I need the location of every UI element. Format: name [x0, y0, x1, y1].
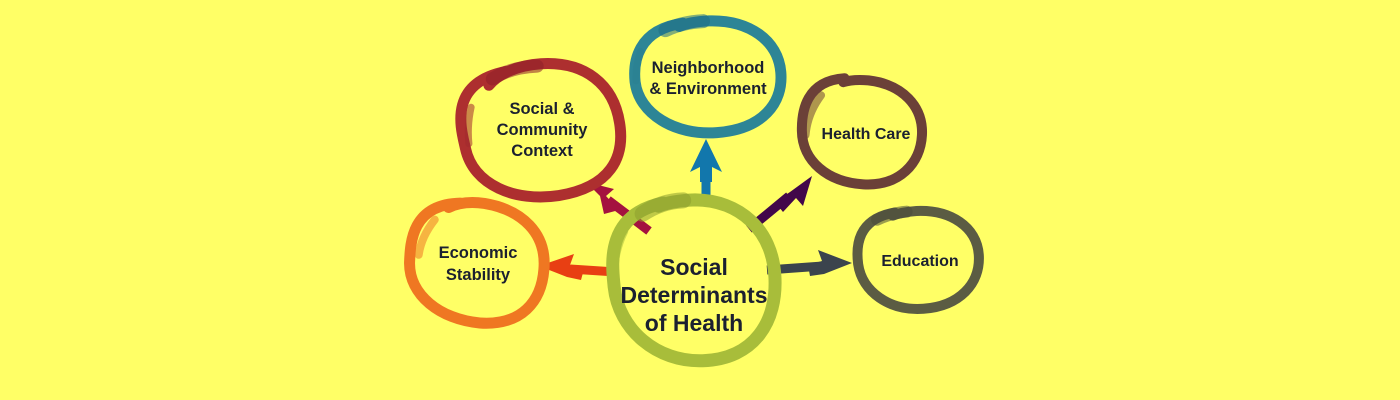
hub-label-line-0: Social	[660, 254, 728, 280]
node-ring	[402, 194, 552, 331]
node-neighborhood-environment[interactable]: Neighborhood & Environment	[632, 17, 784, 137]
node-label-line-0: Economic	[439, 244, 518, 262]
node-economic-stability[interactable]: Economic Stability	[402, 194, 552, 331]
node-ring-overlap	[877, 212, 907, 220]
node-label-line-0: Education	[881, 253, 958, 270]
hub-label-line-2: of Health	[645, 310, 743, 336]
node-label-line-1: & Environment	[649, 80, 767, 98]
arrow-to-economic-stability	[539, 254, 616, 280]
social-determinants-of-health-diagram: Social & Community Context Neighborhood …	[0, 0, 1400, 400]
arrow-head	[690, 139, 722, 182]
node-ring	[632, 17, 784, 137]
node-label-line-1: Community	[497, 121, 589, 139]
node-label-line-1: Stability	[446, 266, 511, 284]
arrow-head	[775, 176, 812, 212]
node-ring-tail	[635, 51, 643, 80]
node-social-determinants-of-health[interactable]: Social Determinants of Health	[610, 197, 777, 364]
node-label-line-0: Health Care	[822, 126, 911, 143]
node-ring-tail	[465, 107, 475, 143]
diagram-canvas: Social & Community Context Neighborhood …	[0, 0, 1400, 400]
node-ring-overlap	[665, 21, 703, 30]
node-education[interactable]: Education	[855, 207, 983, 313]
node-health-care[interactable]: Health Care	[797, 75, 926, 189]
node-label-line-0: Neighborhood	[652, 59, 765, 77]
hub-label-line-1: Determinants	[621, 282, 768, 308]
arrow-to-neighborhood-environment	[690, 139, 722, 203]
node-label-line-0: Social &	[509, 100, 574, 118]
hub-ring	[610, 197, 777, 364]
node-social-community-context[interactable]: Social & Community Context	[456, 56, 627, 205]
node-ring-tail	[856, 236, 864, 262]
node-label-line-2: Context	[511, 142, 573, 160]
hub-ring-overlap	[642, 200, 683, 213]
